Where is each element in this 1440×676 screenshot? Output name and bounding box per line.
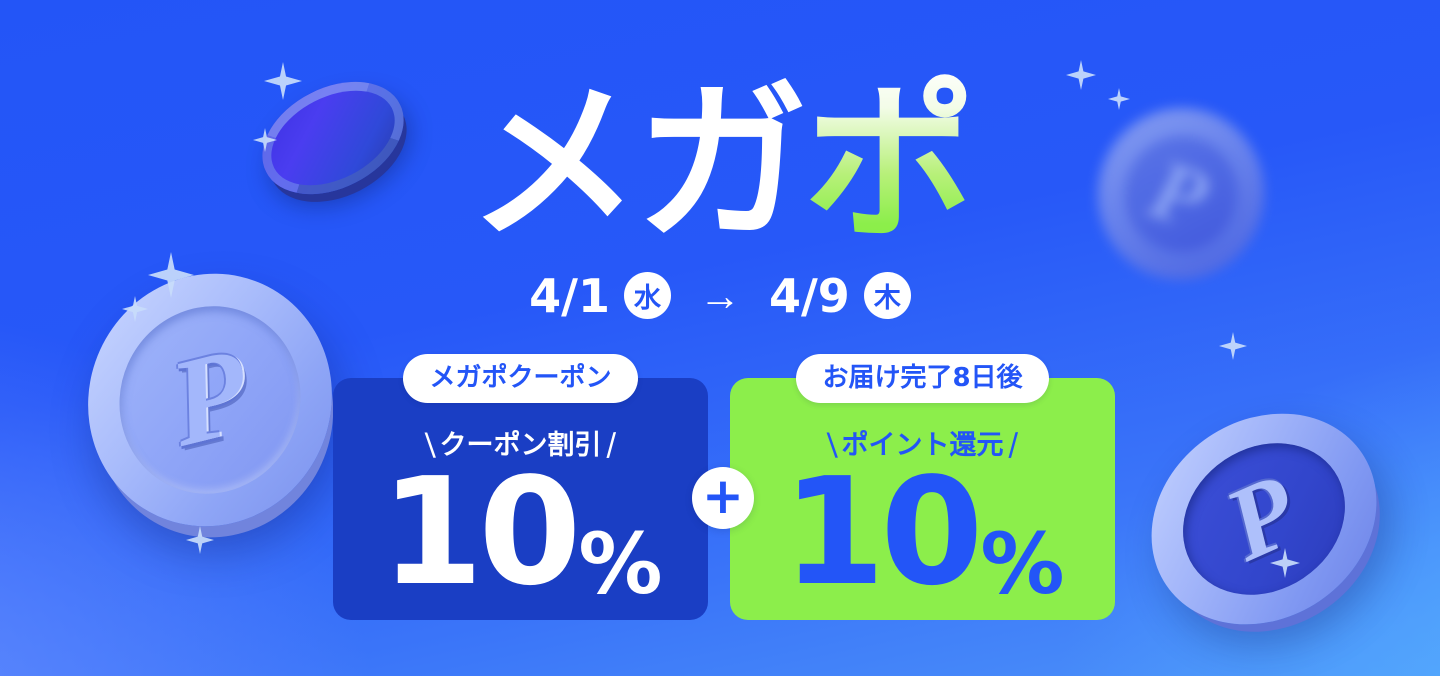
slash-right-icon: / bbox=[1007, 430, 1019, 461]
offer-value-unit: % bbox=[980, 520, 1062, 608]
offer-value-number: 10 bbox=[380, 455, 576, 610]
coin-point-bottom-right-icon: P bbox=[1111, 371, 1417, 667]
end-date: 4/9 bbox=[769, 273, 850, 319]
arrow-right-icon: → bbox=[699, 275, 741, 317]
offer-value-number: 10 bbox=[782, 455, 978, 610]
logo-text-gradient: ポ bbox=[804, 63, 972, 264]
campaign-period: 4/1 水 → 4/9 木 bbox=[0, 272, 1440, 319]
end-day-of-week-badge: 木 bbox=[864, 272, 911, 319]
start-date: 4/1 bbox=[529, 273, 610, 319]
offer-value-coupon: 10% bbox=[380, 455, 660, 610]
campaign-banner: P P P メガポ 4/1 水 → 4/9 木 メガポクーポン \クーポン割引/… bbox=[0, 0, 1440, 676]
offer-card-coupon: メガポクーポン \クーポン割引/ 10% bbox=[333, 378, 708, 620]
sparkle-icon bbox=[1270, 548, 1300, 578]
sparkle-icon bbox=[186, 526, 214, 554]
offer-card-points: お届け完了8日後 \ポイント還元/ 10% bbox=[730, 378, 1115, 620]
logo-text-white: メガ bbox=[468, 63, 804, 264]
slash-left-icon: \ bbox=[425, 430, 437, 461]
sparkle-icon bbox=[1219, 332, 1247, 360]
offer-value-unit: % bbox=[578, 520, 660, 608]
page-title: メガポ bbox=[468, 78, 972, 250]
slash-right-icon: / bbox=[605, 430, 617, 461]
start-day-of-week-badge: 水 bbox=[624, 272, 671, 319]
offer-badge-points: お届け完了8日後 bbox=[796, 354, 1048, 403]
plus-symbol: + bbox=[702, 471, 744, 521]
logo-wrapper: メガポ bbox=[0, 78, 1440, 250]
coin-p-mark: P bbox=[1212, 458, 1312, 579]
offer-value-points: 10% bbox=[782, 455, 1062, 610]
coin-outer-ring bbox=[1111, 371, 1417, 667]
slash-left-icon: \ bbox=[827, 430, 839, 461]
coin-p-mark: P bbox=[161, 328, 256, 467]
offer-badge-coupon: メガポクーポン bbox=[403, 354, 637, 403]
coin-inner-face bbox=[1154, 412, 1375, 625]
plus-combiner-icon: + bbox=[692, 467, 754, 529]
